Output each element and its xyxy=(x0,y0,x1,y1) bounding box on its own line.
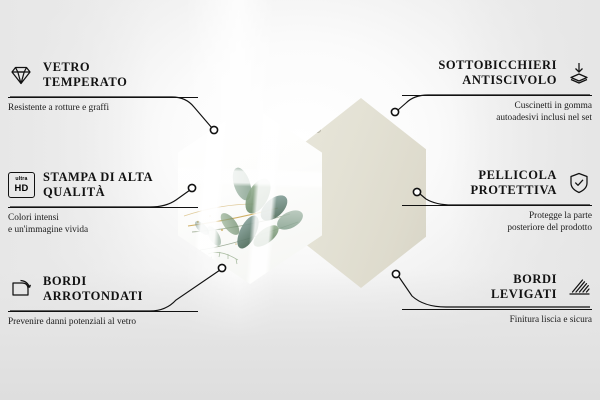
feature-title: STAMPA DI ALTA QUALITÀ xyxy=(43,170,153,200)
feature-divider xyxy=(8,97,198,98)
feature-vetro-temperato: VETRO TEMPERATO Resistente a rotture e g… xyxy=(8,58,198,114)
feature-header: BORDI ARROTONDATI xyxy=(8,272,198,306)
feature-subtitle: Protegge la parte posteriore del prodott… xyxy=(402,210,592,235)
feature-subtitle: Cuscinetti in gomma autoadesivi inclusi … xyxy=(402,100,592,125)
feature-subtitle: Prevenire danni potenziali al vetro xyxy=(8,316,198,328)
ultra-hd-icon: ultra HD xyxy=(8,172,34,198)
feature-stampa-alta-qualita: ultra HD STAMPA DI ALTA QUALITÀ Colori i… xyxy=(8,168,198,237)
feature-sottobicchieri-antiscivolo: SOTTOBICCHIERI ANTISCIVOLO Cuscinetti in… xyxy=(402,56,592,125)
feature-subtitle: Colori intensi e un'immagine vivida xyxy=(8,212,198,237)
feature-divider xyxy=(8,207,198,208)
diamond-icon xyxy=(8,62,34,88)
feature-bordi-levigati: BORDI LEVIGATI Finitura liscia e sicura xyxy=(402,270,592,326)
feature-header: ultra HD STAMPA DI ALTA QUALITÀ xyxy=(8,168,198,202)
rounded-corner-icon xyxy=(8,276,34,302)
feature-subtitle: Finitura liscia e sicura xyxy=(402,314,592,326)
feature-header: VETRO TEMPERATO xyxy=(8,58,198,92)
polished-edge-icon xyxy=(566,274,592,300)
feature-divider xyxy=(402,309,592,310)
feature-subtitle: Resistente a rotture e graffi xyxy=(8,102,198,114)
feature-title: VETRO TEMPERATO xyxy=(43,60,127,90)
feature-title: BORDI LEVIGATI xyxy=(491,272,557,302)
feature-title: BORDI ARROTONDATI xyxy=(43,274,143,304)
feature-bordi-arrotondati: BORDI ARROTONDATI Prevenire danni potenz… xyxy=(8,272,198,328)
feature-header: SOTTOBICCHIERI ANTISCIVOLO xyxy=(402,56,592,90)
feature-divider xyxy=(402,95,592,96)
ultra-hd-badge-bottom: HD xyxy=(15,183,29,192)
shield-check-icon xyxy=(566,170,592,196)
feature-pellicola-protettiva: PELLICOLA PROTETTIVA Protegge la parte p… xyxy=(402,166,592,235)
infographic-canvas: VETRO TEMPERATO Resistente a rotture e g… xyxy=(0,0,600,400)
press-pad-icon xyxy=(566,60,592,86)
feature-title: SOTTOBICCHIERI ANTISCIVOLO xyxy=(438,58,557,88)
feature-header: BORDI LEVIGATI xyxy=(402,270,592,304)
feature-divider xyxy=(402,205,592,206)
feature-divider xyxy=(8,311,198,312)
feature-title: PELLICOLA PROTETTIVA xyxy=(470,168,557,198)
feature-header: PELLICOLA PROTETTIVA xyxy=(402,166,592,200)
